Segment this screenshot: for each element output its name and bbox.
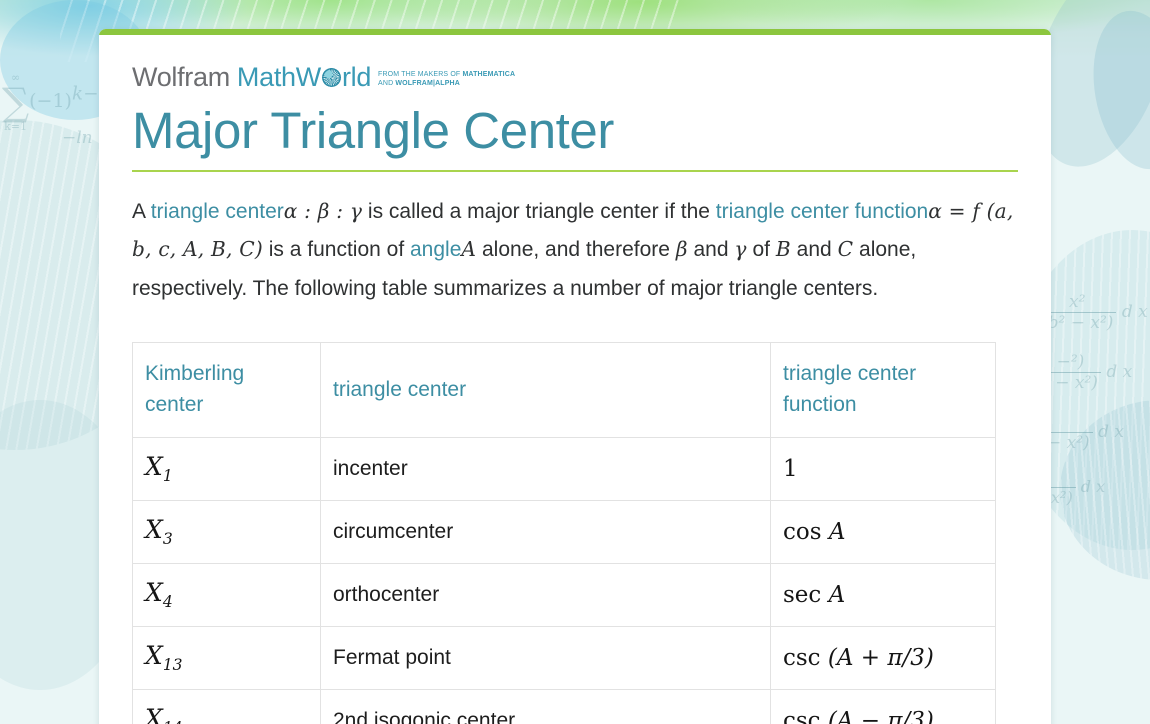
logo-wolfram-text: Wolfram (132, 64, 230, 91)
major-triangle-centers-table: Kimberling center triangle center triang… (132, 342, 996, 724)
link-angle[interactable]: angle (410, 238, 461, 261)
formula-numerator (1048, 468, 1076, 488)
tagline-wolframalpha: WOLFRAM|ALPHA (395, 80, 460, 87)
cell-triangle-center-function: 1 (771, 438, 996, 501)
intro-text: alone, and therefore (476, 238, 676, 261)
site-logo[interactable]: Wolfram MathWrld FROM THE MAKERS OF MATH… (132, 61, 1018, 91)
table-row: X13Fermat pointcsc (A + π/3) (133, 627, 996, 690)
background-formula-watermark: ∞ ∑ k=1 (−1)k−1 (2, 72, 111, 132)
triangle-center-name: Fermat point (333, 646, 451, 669)
title-underline-rule (132, 170, 1018, 172)
math-beta: β (676, 237, 688, 261)
formula-differential: d x (1098, 422, 1124, 442)
kimberling-index: 1 (163, 467, 173, 485)
link-circumcenter[interactable]: circumcenter (333, 520, 453, 543)
table-row: X3circumcentercos A (133, 501, 996, 564)
sum-lower-limit: k=1 (2, 121, 29, 132)
intro-paragraph: A triangle centerα : β : γ is called a m… (132, 193, 1018, 308)
logo-mathworld-text: MathWrld (237, 64, 371, 91)
intro-text: of (747, 238, 776, 261)
link-triangle-center-function[interactable]: triangle center function (716, 200, 928, 223)
formula-term: (−1) (29, 90, 72, 112)
logo-math-text: Math (237, 64, 296, 91)
background-formula-watermark: −ln (62, 128, 93, 148)
summation-icon: ∑ (2, 83, 29, 121)
logo-tagline-line-1: FROM THE MAKERS OF MATHEMATICA (378, 70, 515, 79)
background-formula-watermark: x²) d x (1048, 468, 1105, 507)
formula-numerator (1044, 412, 1093, 433)
cell-kimberling-center: X3 (133, 501, 321, 564)
formula-differential: d x (1106, 362, 1132, 382)
logo-wordmark: Wolfram MathWrld (132, 64, 371, 91)
intro-text: is a function of (263, 238, 410, 261)
cell-triangle-center-function: csc (A + π/3) (771, 627, 996, 690)
function-argument: (A − π/3) (828, 708, 934, 724)
content-card: Wolfram MathWrld FROM THE MAKERS OF MATH… (99, 29, 1051, 724)
column-header-kimberling-center[interactable]: Kimberling center (133, 343, 321, 438)
column-header-triangle-center-function[interactable]: triangle center function (771, 343, 996, 438)
cell-kimberling-center: X14 (133, 690, 321, 724)
math-angle-b: B (776, 237, 791, 261)
function-name: csc (783, 645, 828, 671)
function-name: cos (783, 519, 829, 545)
cell-triangle-center: Fermat point (321, 627, 771, 690)
formula-differential: d x (1122, 302, 1148, 322)
link-incenter[interactable]: incenter (333, 457, 408, 480)
cell-triangle-center[interactable]: incenter (321, 438, 771, 501)
function-argument: A (829, 519, 846, 545)
formula-term: −ln (62, 128, 93, 148)
globe-icon (322, 68, 341, 87)
cell-kimberling-center: X1 (133, 438, 321, 501)
link-triangle-center[interactable]: triangle center (151, 200, 284, 223)
kimberling-symbol: X (145, 641, 163, 670)
triangle-center-name: 2nd isogonic center (333, 709, 515, 724)
kimberling-index: 3 (163, 530, 173, 548)
kimberling-index: 14 (163, 719, 183, 724)
logo-tagline-line-2: AND WOLFRAM|ALPHA (378, 79, 515, 88)
kimberling-index: 13 (163, 656, 183, 674)
function-argument: 1 (783, 456, 798, 482)
kimberling-index: 4 (163, 593, 173, 611)
cell-triangle-center-function: cos A (771, 501, 996, 564)
background-formula-watermark: x² (b² − x²) d x (1038, 292, 1148, 333)
table-row: X1incenter1 (133, 438, 996, 501)
column-header-triangle-center[interactable]: triangle center (321, 343, 771, 438)
function-argument: A (829, 582, 846, 608)
cell-triangle-center[interactable]: circumcenter (321, 501, 771, 564)
math-gamma: γ (734, 237, 746, 261)
cell-kimberling-center: X4 (133, 564, 321, 627)
kimberling-symbol: X (145, 515, 163, 544)
page-title: Major Triangle Center (132, 104, 1018, 158)
function-name: sec (783, 582, 829, 608)
table-body: X1incenter1X3circumcentercos AX4orthocen… (133, 438, 996, 724)
function-name: csc (783, 708, 828, 724)
kimberling-symbol: X (145, 452, 163, 481)
logo-tagline: FROM THE MAKERS OF MATHEMATICA AND WOLFR… (378, 70, 515, 91)
table-header-row: Kimberling center triangle center triang… (133, 343, 996, 438)
cell-triangle-center[interactable]: orthocenter (321, 564, 771, 627)
background-formula-watermark: −²) ² − x²) d x (1040, 352, 1132, 393)
table-row: X4orthocentersec A (133, 564, 996, 627)
function-argument: (A + π/3) (828, 645, 934, 671)
intro-text: and (688, 238, 735, 261)
table-row: X142nd isogonic centercsc (A − π/3) (133, 690, 996, 724)
kimberling-symbol: X (145, 578, 163, 607)
link-orthocenter[interactable]: orthocenter (333, 583, 439, 606)
intro-text: is called a major triangle center if the (362, 200, 716, 223)
intro-text: and (791, 238, 838, 261)
cell-triangle-center-function: sec A (771, 564, 996, 627)
background-formula-watermark: − x²) d x (1044, 412, 1124, 453)
formula-denominator: x²) (1048, 488, 1076, 507)
tagline-text: FROM THE MAKERS OF (378, 71, 462, 78)
cell-triangle-center: 2nd isogonic center (321, 690, 771, 724)
intro-text: A (132, 200, 151, 223)
formula-differential: d x (1081, 477, 1105, 496)
tagline-text: AND (378, 80, 395, 87)
cell-triangle-center-function: csc (A − π/3) (771, 690, 996, 724)
formula-denominator: − x²) (1044, 433, 1093, 453)
cell-kimberling-center: X13 (133, 627, 321, 690)
logo-world-post: rld (342, 64, 371, 91)
math-alpha-beta-gamma: α : β : γ (284, 199, 362, 223)
math-angle-a: A (461, 237, 476, 261)
kimberling-symbol: X (145, 704, 163, 724)
logo-world-pre: W (296, 64, 321, 91)
tagline-mathematica: MATHEMATICA (462, 71, 515, 78)
math-angle-c: C (838, 237, 854, 261)
